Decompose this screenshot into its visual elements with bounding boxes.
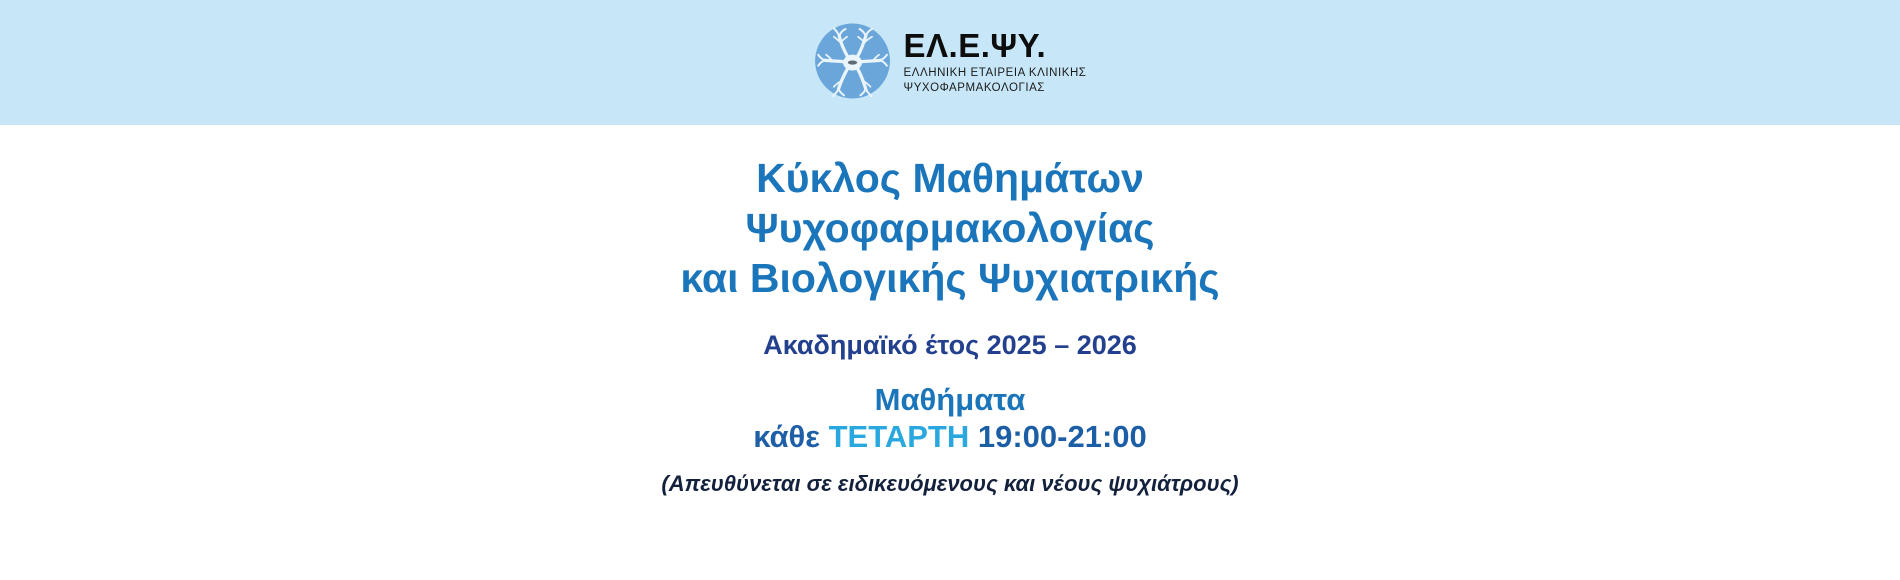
- schedule-block: Μαθήματα κάθε ΤΕΤΑΡΤΗ 19:00-21:00: [0, 361, 1900, 454]
- brand-subtitle-line1: ΕΛΛΗΝΙΚΗ ΕΤΑΙΡΕΙΑ ΚΛΙΝΙΚΗΣ: [904, 66, 1087, 80]
- neuron-logo-icon: [814, 22, 892, 100]
- main-content: Κύκλος Μαθημάτων Ψυχοφαρμακολογίας και Β…: [0, 125, 1900, 580]
- academic-year-label: Ακαδημαϊκό έτος 2025 – 2026: [0, 303, 1900, 361]
- audience-note: (Απευθύνεται σε ειδικευόμενους και νέους…: [0, 455, 1900, 497]
- schedule-time: 19:00-21:00: [969, 419, 1147, 454]
- brand-lockup: ΕΛ.Ε.ΨΥ. ΕΛΛΗΝΙΚΗ ΕΤΑΙΡΕΙΑ ΚΛΙΝΙΚΗΣ ΨΥΧΟ…: [814, 22, 1087, 100]
- brand-acronym: ΕΛ.Ε.ΨΥ.: [904, 29, 1047, 62]
- brand-subtitle-line2: ΨΥΧΟΦΑΡΜΑΚΟΛΟΓΙΑΣ: [904, 81, 1087, 95]
- page-title-line-3: και Βιολογικής Ψυχιατρικής: [0, 253, 1900, 303]
- page-title: Κύκλος Μαθημάτων Ψυχοφαρμακολογίας και Β…: [0, 125, 1900, 303]
- header-band: ΕΛ.Ε.ΨΥ. ΕΛΛΗΝΙΚΗ ΕΤΑΙΡΕΙΑ ΚΛΙΝΙΚΗΣ ΨΥΧΟ…: [0, 0, 1900, 125]
- brand-text: ΕΛ.Ε.ΨΥ. ΕΛΛΗΝΙΚΗ ΕΤΑΙΡΕΙΑ ΚΛΙΝΙΚΗΣ ΨΥΧΟ…: [904, 27, 1087, 94]
- poster-page: ΕΛ.Ε.ΨΥ. ΕΛΛΗΝΙΚΗ ΕΤΑΙΡΕΙΑ ΚΛΙΝΙΚΗΣ ΨΥΧΟ…: [0, 0, 1900, 580]
- brand-subtitle: ΕΛΛΗΝΙΚΗ ΕΤΑΙΡΕΙΑ ΚΛΙΝΙΚΗΣ ΨΥΧΟΦΑΡΜΑΚΟΛΟ…: [904, 66, 1087, 94]
- schedule-when: κάθε ΤΕΤΑΡΤΗ 19:00-21:00: [0, 420, 1900, 455]
- schedule-heading: Μαθήματα: [0, 383, 1900, 418]
- schedule-prefix: κάθε: [753, 419, 828, 454]
- page-title-line-1: Κύκλος Μαθημάτων: [0, 153, 1900, 203]
- schedule-day: ΤΕΤΑΡΤΗ: [829, 419, 970, 454]
- page-title-line-2: Ψυχοφαρμακολογίας: [0, 203, 1900, 253]
